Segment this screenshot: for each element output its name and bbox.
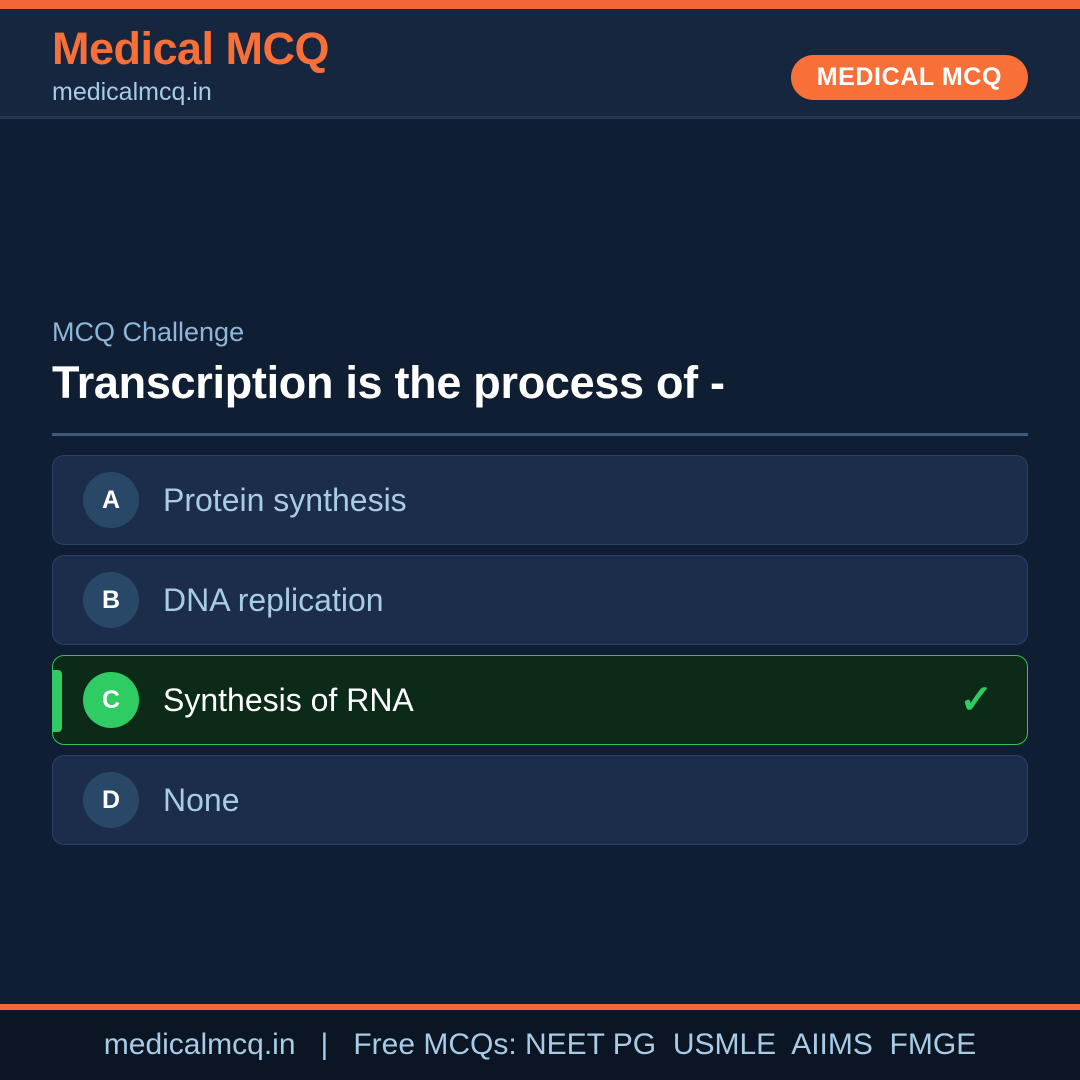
footer-text: medicalmcq.in | Free MCQs: NEET PG USMLE…	[104, 1027, 976, 1063]
brand-subtitle: medicalmcq.in	[52, 76, 329, 108]
page-footer: medicalmcq.in | Free MCQs: NEET PG USMLE…	[0, 1010, 1080, 1080]
top-accent-strip	[0, 0, 1080, 9]
option-text-d: None	[163, 781, 240, 819]
question-panel: MCQ Challenge Transcription is the proce…	[52, 315, 1028, 855]
question-divider	[52, 433, 1028, 436]
option-d[interactable]: D None ✓	[52, 755, 1028, 845]
question-text: Transcription is the process of -	[52, 355, 1028, 411]
option-text-c: Synthesis of RNA	[163, 681, 414, 719]
option-b[interactable]: B DNA replication ✓	[52, 555, 1028, 645]
option-letter-d: D	[83, 772, 139, 828]
option-text-a: Protein synthesis	[163, 481, 407, 519]
kicker-label: MCQ Challenge	[52, 315, 1028, 349]
option-letter-c: C	[83, 672, 139, 728]
page-header: Medical MCQ medicalmcq.in MEDICAL MCQ	[0, 9, 1080, 119]
option-letter-a: A	[83, 472, 139, 528]
brand-title: Medical MCQ	[52, 23, 329, 75]
option-c[interactable]: C Synthesis of RNA ✓	[52, 655, 1028, 745]
correct-accent-bar	[53, 670, 62, 732]
option-letter-b: B	[83, 572, 139, 628]
brand-block: Medical MCQ medicalmcq.in	[52, 23, 329, 108]
check-icon: ✓	[959, 680, 993, 720]
brand-badge: MEDICAL MCQ	[791, 55, 1028, 100]
option-a[interactable]: A Protein synthesis ✓	[52, 455, 1028, 545]
options-list: A Protein synthesis ✓ B DNA replication …	[52, 455, 1028, 845]
option-text-b: DNA replication	[163, 581, 384, 619]
